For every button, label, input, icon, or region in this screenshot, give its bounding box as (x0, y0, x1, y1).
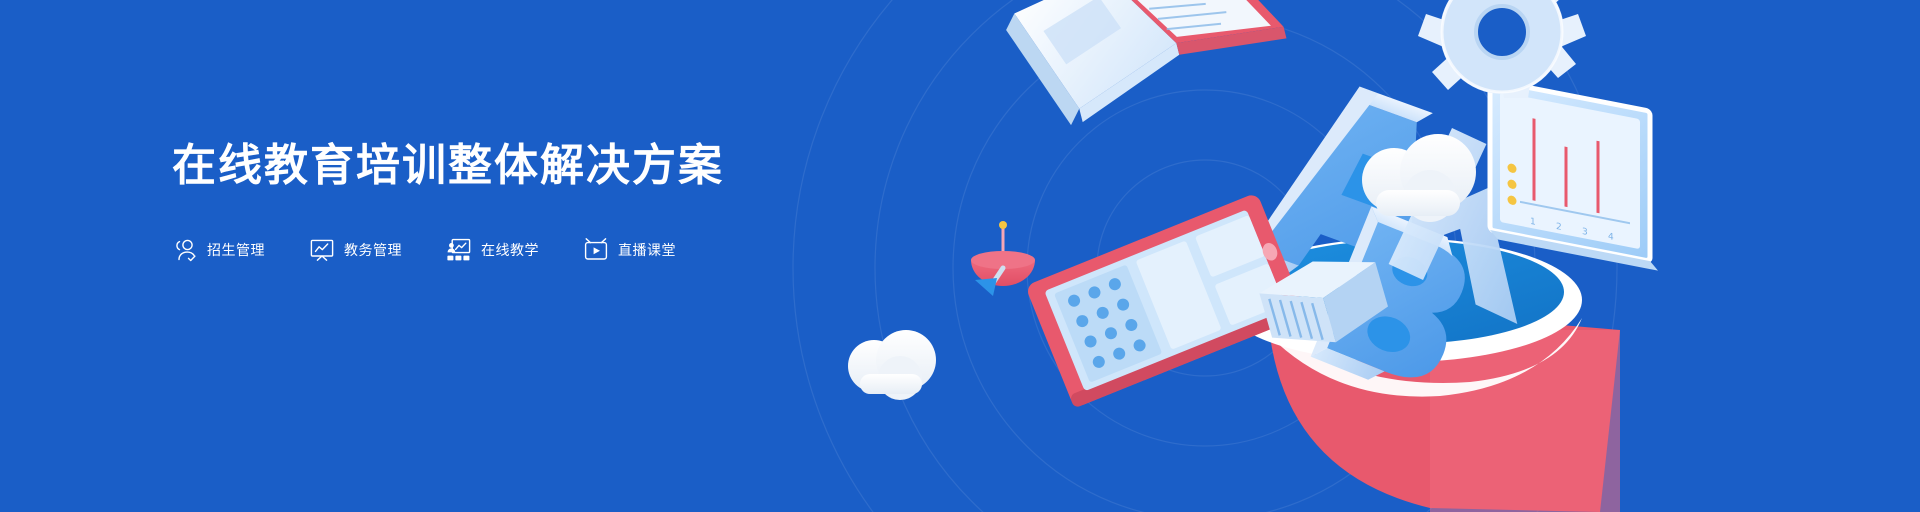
feature-label: 教务管理 (344, 240, 402, 260)
feature-label: 直播课堂 (618, 240, 676, 260)
hero-content: 在线教育培训整体解决方案 招生管理 (172, 140, 872, 263)
user-group-icon (172, 237, 198, 263)
feature-item-online-teaching[interactable]: 在线教学 (446, 237, 539, 263)
education-hero-banner: 12 34 (0, 0, 1920, 512)
feature-label: 招生管理 (207, 240, 265, 260)
svg-text:3: 3 (1582, 227, 1588, 238)
svg-text:1: 1 (1530, 217, 1536, 228)
feature-item-live-class[interactable]: 直播课堂 (583, 237, 676, 263)
svg-text:2: 2 (1556, 222, 1562, 233)
tv-play-icon (583, 237, 609, 263)
monitor-chart: 12 34 (1490, 80, 1658, 271)
feature-item-academic[interactable]: 教务管理 (309, 237, 402, 263)
feature-list: 招生管理 教务管理 (172, 237, 872, 263)
chart-board-icon (309, 237, 335, 263)
feature-label: 在线教学 (481, 240, 539, 260)
feature-item-enrollment[interactable]: 招生管理 (172, 237, 265, 263)
svg-text:4: 4 (1608, 232, 1614, 243)
teacher-whiteboard-icon (446, 237, 472, 263)
page-title: 在线教育培训整体解决方案 (172, 140, 872, 193)
